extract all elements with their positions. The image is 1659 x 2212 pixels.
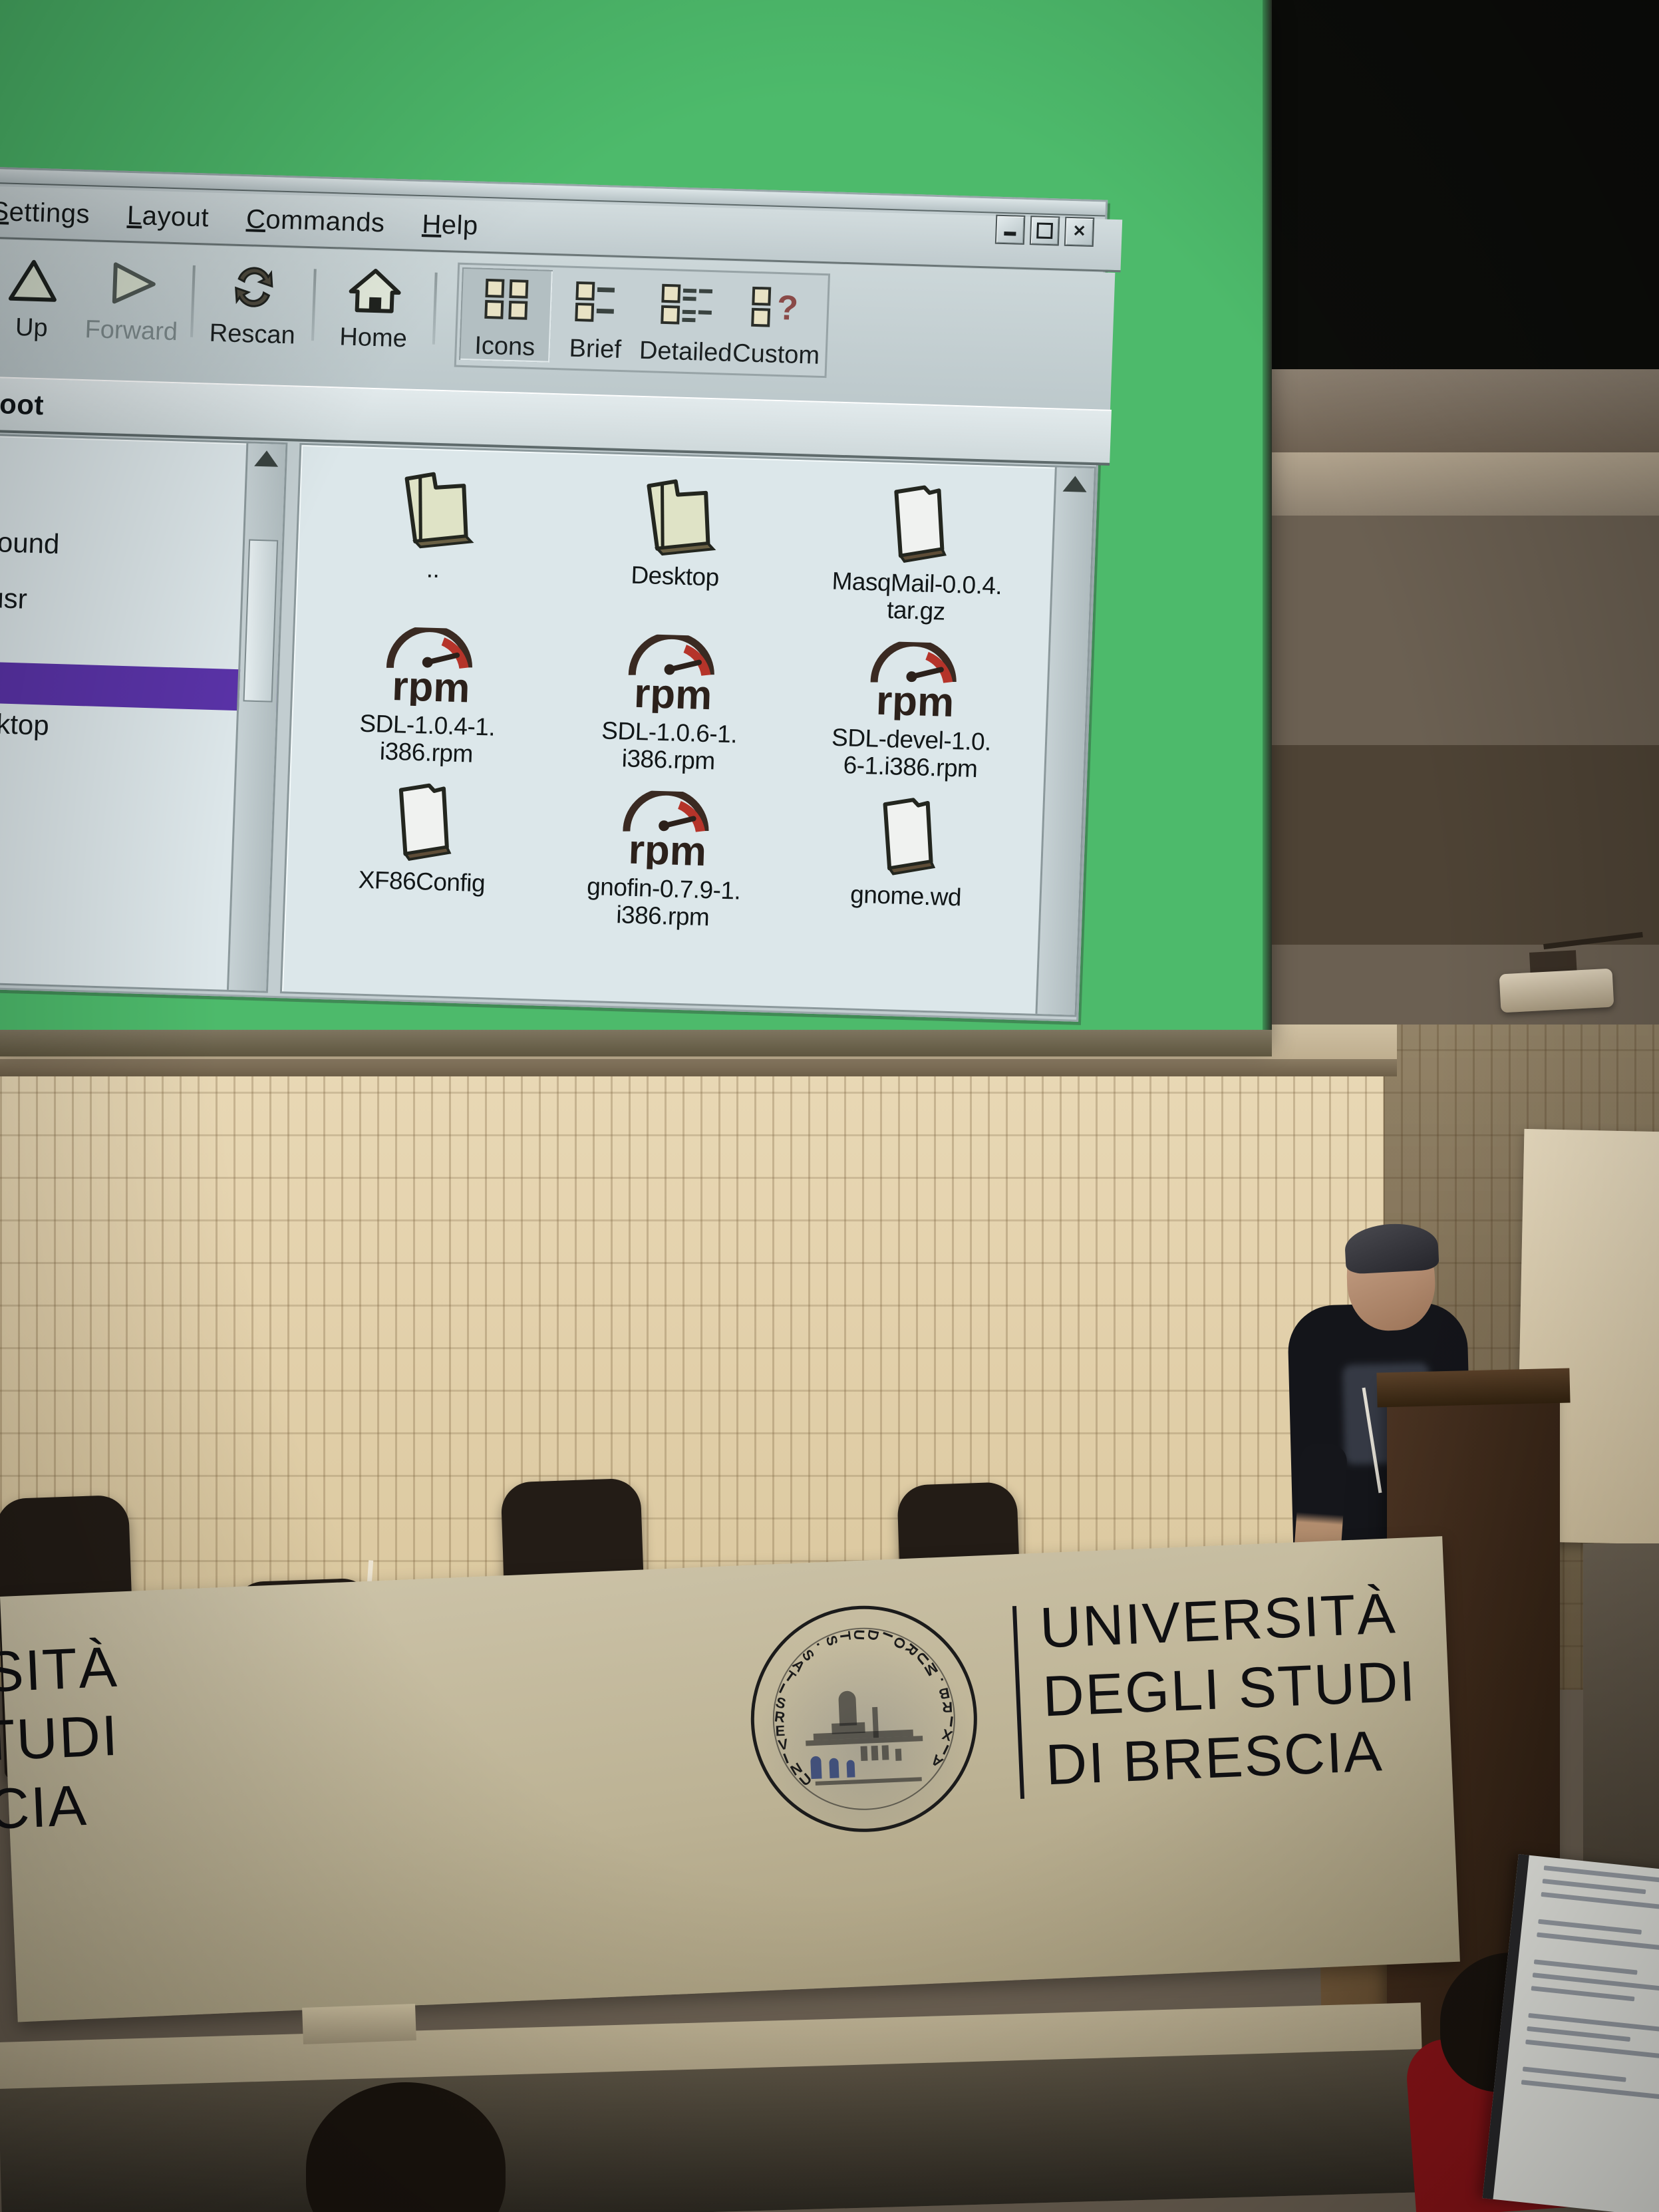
file-name: SDL-1.0.6-1. i386.rpm — [600, 716, 738, 776]
file-item[interactable]: rpm gnofin-0.7.9-1. i386.rpm — [541, 777, 789, 934]
laptop-text-line — [1527, 2026, 1630, 2042]
file-name: .. — [426, 555, 440, 583]
toolbar-rescan-button[interactable]: Rescan — [202, 255, 305, 350]
laptop-text-line — [1531, 1986, 1635, 2001]
menu-item-settings[interactable]: Settings — [0, 196, 90, 229]
menu-item-help[interactable]: Help — [422, 210, 479, 241]
toolbar-separator — [190, 265, 196, 337]
banner-brand-text: UNIVERSITÀ DEGLI STUDI DI BRESCIA — [1038, 1579, 1420, 1800]
scrollbar-thumb[interactable] — [243, 540, 278, 703]
custom-question-icon: ? — [748, 280, 808, 335]
tree-item[interactable]: esktop — [0, 703, 276, 753]
close-icon[interactable]: ✕ — [1064, 217, 1095, 247]
brand-line-3: DI BRESCIA — [1044, 1716, 1421, 1800]
brand-left-line-1: ERSITÀ — [0, 1633, 119, 1711]
scroll-up-arrow-icon[interactable] — [1063, 476, 1088, 492]
file-name: gnome.wd — [850, 880, 962, 911]
ceiling-band-lower — [1267, 452, 1659, 516]
file-name: gnofin-0.7.9-1. i386.rpm — [585, 873, 741, 933]
view-mode-custom-button[interactable]: ? Custom — [730, 275, 824, 371]
toolbar-separator-2 — [311, 269, 317, 341]
file-name: SDL-1.0.4-1. i386.rpm — [358, 709, 496, 768]
minimize-button[interactable] — [995, 215, 1026, 245]
brand-left-line-3: ESCIA — [0, 1770, 125, 1848]
menu-item-commands[interactable]: Commands — [245, 204, 385, 238]
detailed-list-icon — [658, 277, 717, 333]
file-name: XF86Config — [358, 866, 486, 897]
view-mode-icons-button[interactable]: Icons — [459, 267, 553, 363]
toolbar-up-label: Up — [15, 313, 48, 343]
scroll-up-arrow-icon[interactable] — [254, 450, 279, 467]
directory-tree-pane[interactable]: e +found - usr c esktop n — [0, 433, 287, 993]
file-name: SDL-devel-1.0. 6-1.i386.rpm — [830, 724, 992, 784]
university-banner: ERSITÀ I STUDI ESCIA UNIVERSITAS·STUDIOR… — [0, 1536, 1460, 2022]
gmc-window-wrapper: ✕ Settings Layout Commands Help Up — [0, 166, 1143, 1045]
university-crest: UNIVERSITAS·STUDIORUM·BRIXIA — [746, 1601, 982, 1837]
menu-item-layout[interactable]: Layout — [126, 200, 210, 233]
view-mode-detailed-button[interactable]: Detailed — [640, 273, 734, 368]
svg-text:rpm: rpm — [391, 663, 471, 708]
svg-text:rpm: rpm — [875, 677, 955, 722]
file-name: MasqMail-0.0.4. tar.gz — [830, 567, 1002, 627]
screen-bottom-shadow — [0, 1059, 1397, 1076]
upper-wall-dark-band — [1267, 745, 1659, 945]
dark-ceiling-panel — [1267, 0, 1659, 373]
laptop-text-line — [1521, 2080, 1659, 2099]
file-item[interactable]: Desktop — [552, 464, 800, 621]
rpm-icon: rpm — [620, 627, 723, 714]
toolbar-home-label: Home — [339, 323, 408, 353]
lecture-hall-photo: ✕ Settings Layout Commands Help Up — [0, 0, 1659, 2212]
view-mode-brief-button[interactable]: Brief — [549, 270, 643, 365]
tree-item[interactable]: - usr — [0, 569, 281, 635]
step-block — [302, 2004, 416, 2044]
view-mode-icons-label: Icons — [474, 331, 535, 362]
file-item[interactable]: rpm SDL-devel-1.0. 6-1.i386.rpm — [789, 628, 1036, 785]
brand-left-line-2: I STUDI — [0, 1702, 122, 1780]
ceiling-projector — [1499, 969, 1614, 1013]
svg-text:rpm: rpm — [633, 671, 713, 715]
file-item[interactable]: gnome.wd — [784, 784, 1031, 941]
toolbar-separator-3 — [432, 273, 438, 345]
folder-icon — [388, 464, 482, 552]
crest-cityscape — [792, 1687, 938, 1793]
rpm-icon: rpm — [378, 619, 481, 707]
ceiling-band-upper — [1267, 369, 1659, 456]
toolbar-forward-button[interactable]: Forward — [81, 251, 184, 347]
file-item[interactable]: .. — [311, 457, 558, 614]
tree-item[interactable]: +found — [0, 514, 283, 579]
laptop-text-line — [1538, 1919, 1642, 1935]
file-item[interactable]: rpm SDL-1.0.6-1. i386.rpm — [547, 621, 794, 778]
view-mode-brief-label: Brief — [569, 335, 622, 365]
rpm-icon: rpm — [862, 634, 965, 722]
up-triangle-icon — [7, 253, 59, 308]
laptop-text-line — [1534, 1959, 1638, 1975]
file-name: Desktop — [631, 561, 720, 591]
laptop-text-line — [1523, 2066, 1626, 2082]
screen-right-edge — [1263, 0, 1272, 1038]
grid-four-icon — [480, 272, 533, 327]
laptop-text-line — [1543, 1879, 1646, 1894]
house-icon — [347, 263, 402, 318]
side-wall-panel — [1583, 1543, 1659, 1876]
view-mode-detailed-label: Detailed — [639, 337, 732, 368]
laptop-text-line — [1541, 1892, 1659, 1911]
view-mode-custom-label: Custom — [732, 339, 820, 371]
file-item[interactable]: rpm SDL-1.0.4-1. i386.rpm — [305, 613, 552, 770]
location-path: /root — [0, 387, 45, 421]
svg-text:?: ? — [776, 289, 799, 328]
rpm-icon: rpm — [615, 783, 718, 871]
toolbar-forward-label: Forward — [84, 315, 178, 347]
toolbar-rescan-label: Rescan — [209, 319, 295, 351]
maximize-button[interactable] — [1030, 216, 1060, 245]
refresh-arrows-icon — [228, 260, 279, 315]
brief-list-icon — [571, 275, 623, 329]
forward-triangle-icon — [107, 256, 158, 311]
file-icons-pane[interactable]: .. Desktop — [280, 443, 1096, 1017]
banner-brand-left-partial: ERSITÀ I STUDI ESCIA — [0, 1633, 125, 1848]
panes-container: e +found - usr c esktop n — [0, 433, 1096, 1017]
banner-divider-rule — [1012, 1606, 1024, 1799]
document-icon — [382, 776, 466, 864]
document-icon — [867, 790, 950, 877]
svg-text:rpm: rpm — [628, 826, 708, 871]
folder-icon — [631, 471, 724, 559]
toolbar-up-button[interactable]: Up — [0, 249, 84, 344]
window-controls: ✕ — [995, 215, 1095, 247]
document-icon — [878, 478, 961, 565]
laptop-text-line — [1537, 1933, 1659, 1952]
podium-top-surface — [1376, 1368, 1570, 1407]
view-mode-group: Icons Brief — [454, 263, 830, 379]
toolbar-home-button[interactable]: Home — [323, 259, 426, 354]
file-item[interactable]: XF86Config — [299, 770, 547, 927]
tree-item[interactable]: e — [0, 458, 285, 523]
gmc-file-manager-window: ✕ Settings Layout Commands Help Up — [0, 166, 1108, 1022]
file-icon-grid: .. Desktop — [299, 457, 1042, 941]
file-item[interactable]: MasqMail-0.0.4. tar.gz — [794, 472, 1042, 629]
laptop-text-line — [1525, 2040, 1659, 2059]
file-pane-scrollbar[interactable] — [1035, 467, 1094, 1015]
